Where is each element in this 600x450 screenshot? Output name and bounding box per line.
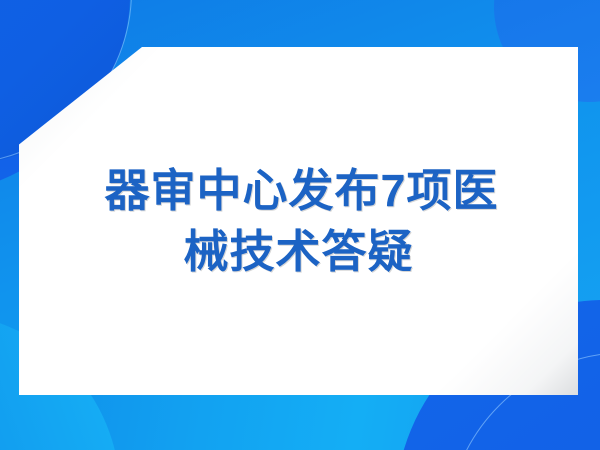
headline-card-content: 器审中心发布7项医 械技术答疑: [19, 47, 578, 395]
poster-banner: 器审中心发布7项医 械技术答疑: [0, 0, 600, 450]
headline-line-2: 械技术答疑: [183, 222, 413, 281]
headline-line-1: 器审中心发布7项医: [104, 161, 498, 220]
headline-card: 器审中心发布7项医 械技术答疑: [19, 47, 578, 395]
